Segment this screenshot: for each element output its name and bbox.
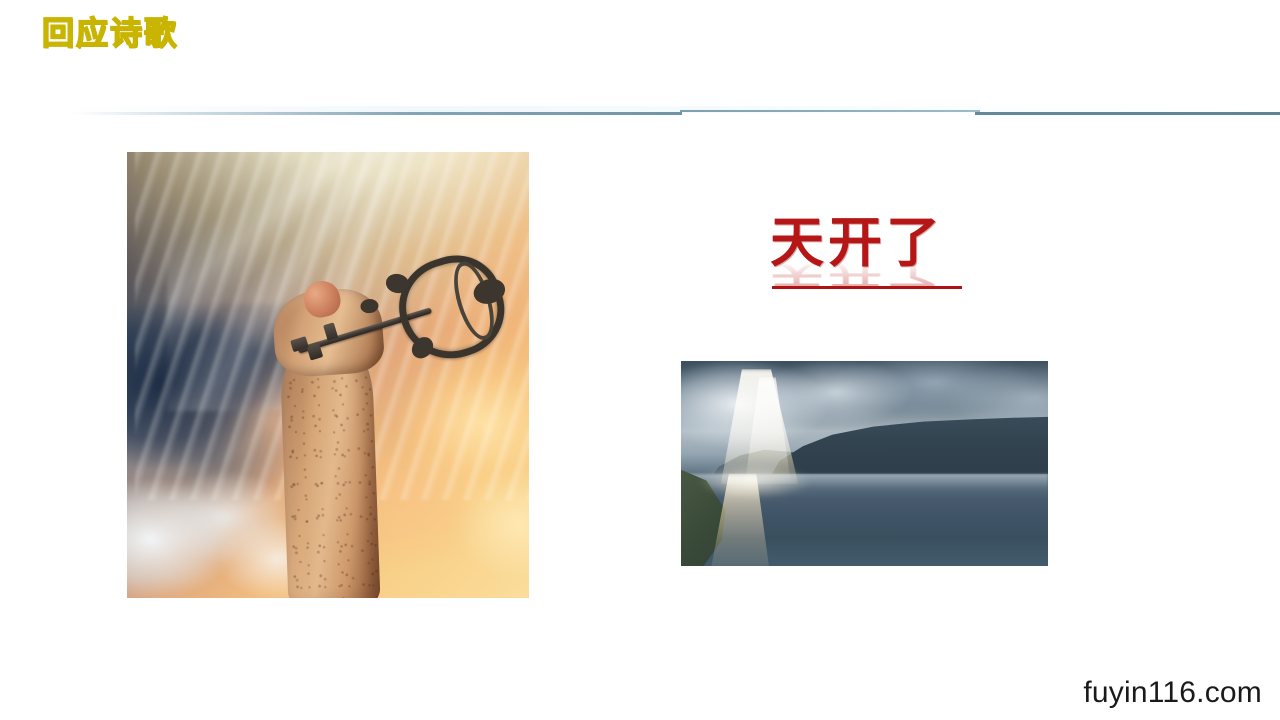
key-bit-two — [323, 322, 339, 341]
section-heading: 天开了 天开了 — [770, 215, 1000, 315]
header-divider — [0, 106, 1280, 120]
section-heading-reflection: 天开了 — [770, 259, 944, 289]
page-title: 回应诗歌 — [42, 16, 178, 51]
presentation-slide: 回应诗歌 — [0, 0, 1280, 720]
hand-holding-key-image — [127, 152, 529, 598]
divider-segment-mid — [680, 110, 980, 112]
key-ornament-inner — [359, 298, 378, 314]
divider-segment-left — [72, 112, 682, 115]
site-watermark: fuyin116.com — [1083, 676, 1262, 710]
fjord-sunbeam-image — [681, 361, 1048, 566]
divider-segment-right — [975, 112, 1280, 115]
